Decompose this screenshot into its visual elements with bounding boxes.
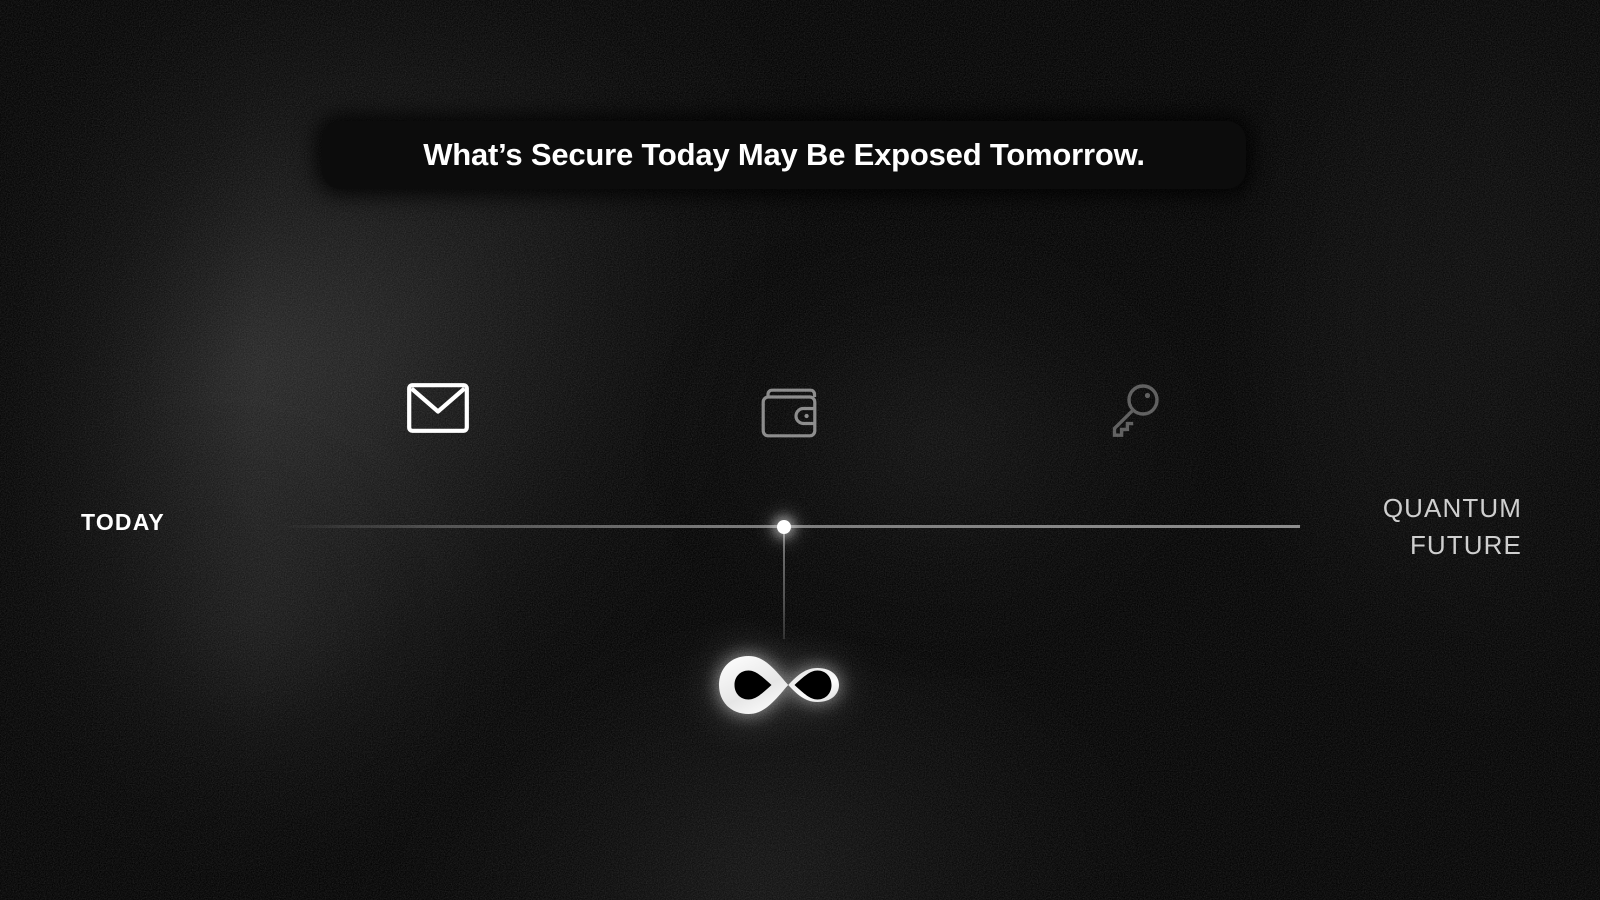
headline-pill: What’s Secure Today May Be Exposed Tomor…	[322, 121, 1246, 189]
timeline-start-label: TODAY	[81, 509, 165, 536]
timeline-end-label-line1: QUANTUM	[1383, 490, 1522, 527]
smoke-band-left	[0, 101, 761, 900]
key-icon	[1105, 382, 1161, 443]
timeline-end-label-line2: FUTURE	[1383, 527, 1522, 564]
timeline-asset-email	[403, 381, 473, 439]
timeline-connector-line	[783, 533, 785, 639]
wallet-icon	[761, 388, 817, 443]
brand-logo[interactable]	[710, 645, 856, 725]
timeline-end-label: QUANTUM FUTURE	[1383, 490, 1522, 564]
hero-section: What’s Secure Today May Be Exposed Tomor…	[0, 0, 1600, 900]
page-title: What’s Secure Today May Be Exposed Tomor…	[423, 137, 1145, 173]
timeline-marker-dot[interactable]	[777, 520, 791, 534]
infinity-icon	[710, 645, 856, 725]
mail-icon	[407, 383, 469, 438]
smoke-band-center	[560, 120, 1320, 760]
timeline-asset-encryption-key	[1098, 382, 1168, 442]
timeline-asset-wallet	[754, 386, 824, 444]
